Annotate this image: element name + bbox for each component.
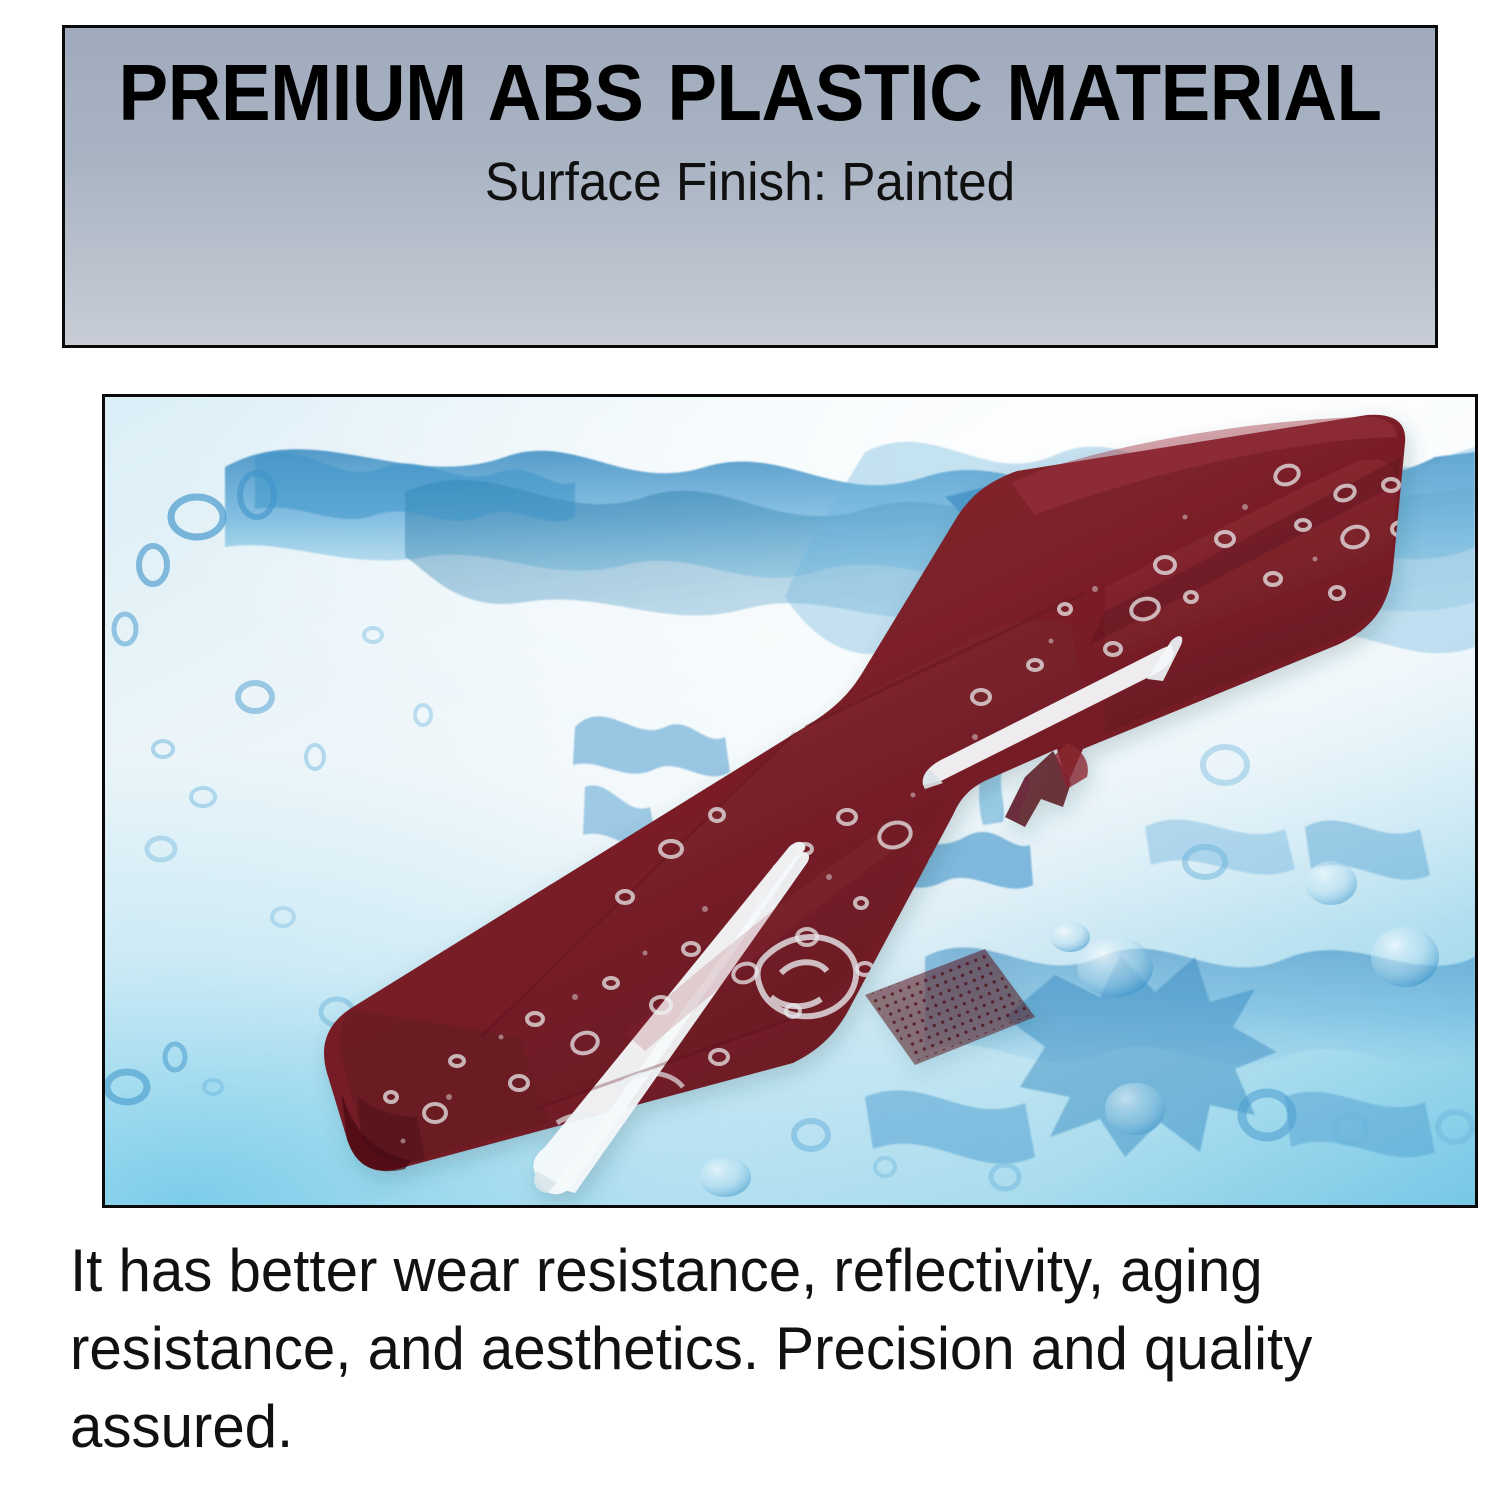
product-description: It has better wear resistance, reflectiv…	[70, 1232, 1409, 1466]
page-title: PREMIUM ABS PLASTIC MATERIAL	[113, 54, 1387, 132]
header-panel: PREMIUM ABS PLASTIC MATERIAL Surface Fin…	[62, 25, 1438, 348]
dashboard-cover-product	[105, 397, 1475, 1205]
product-image-panel	[102, 394, 1478, 1208]
header-subtitle: Surface Finish: Painted	[99, 154, 1401, 211]
